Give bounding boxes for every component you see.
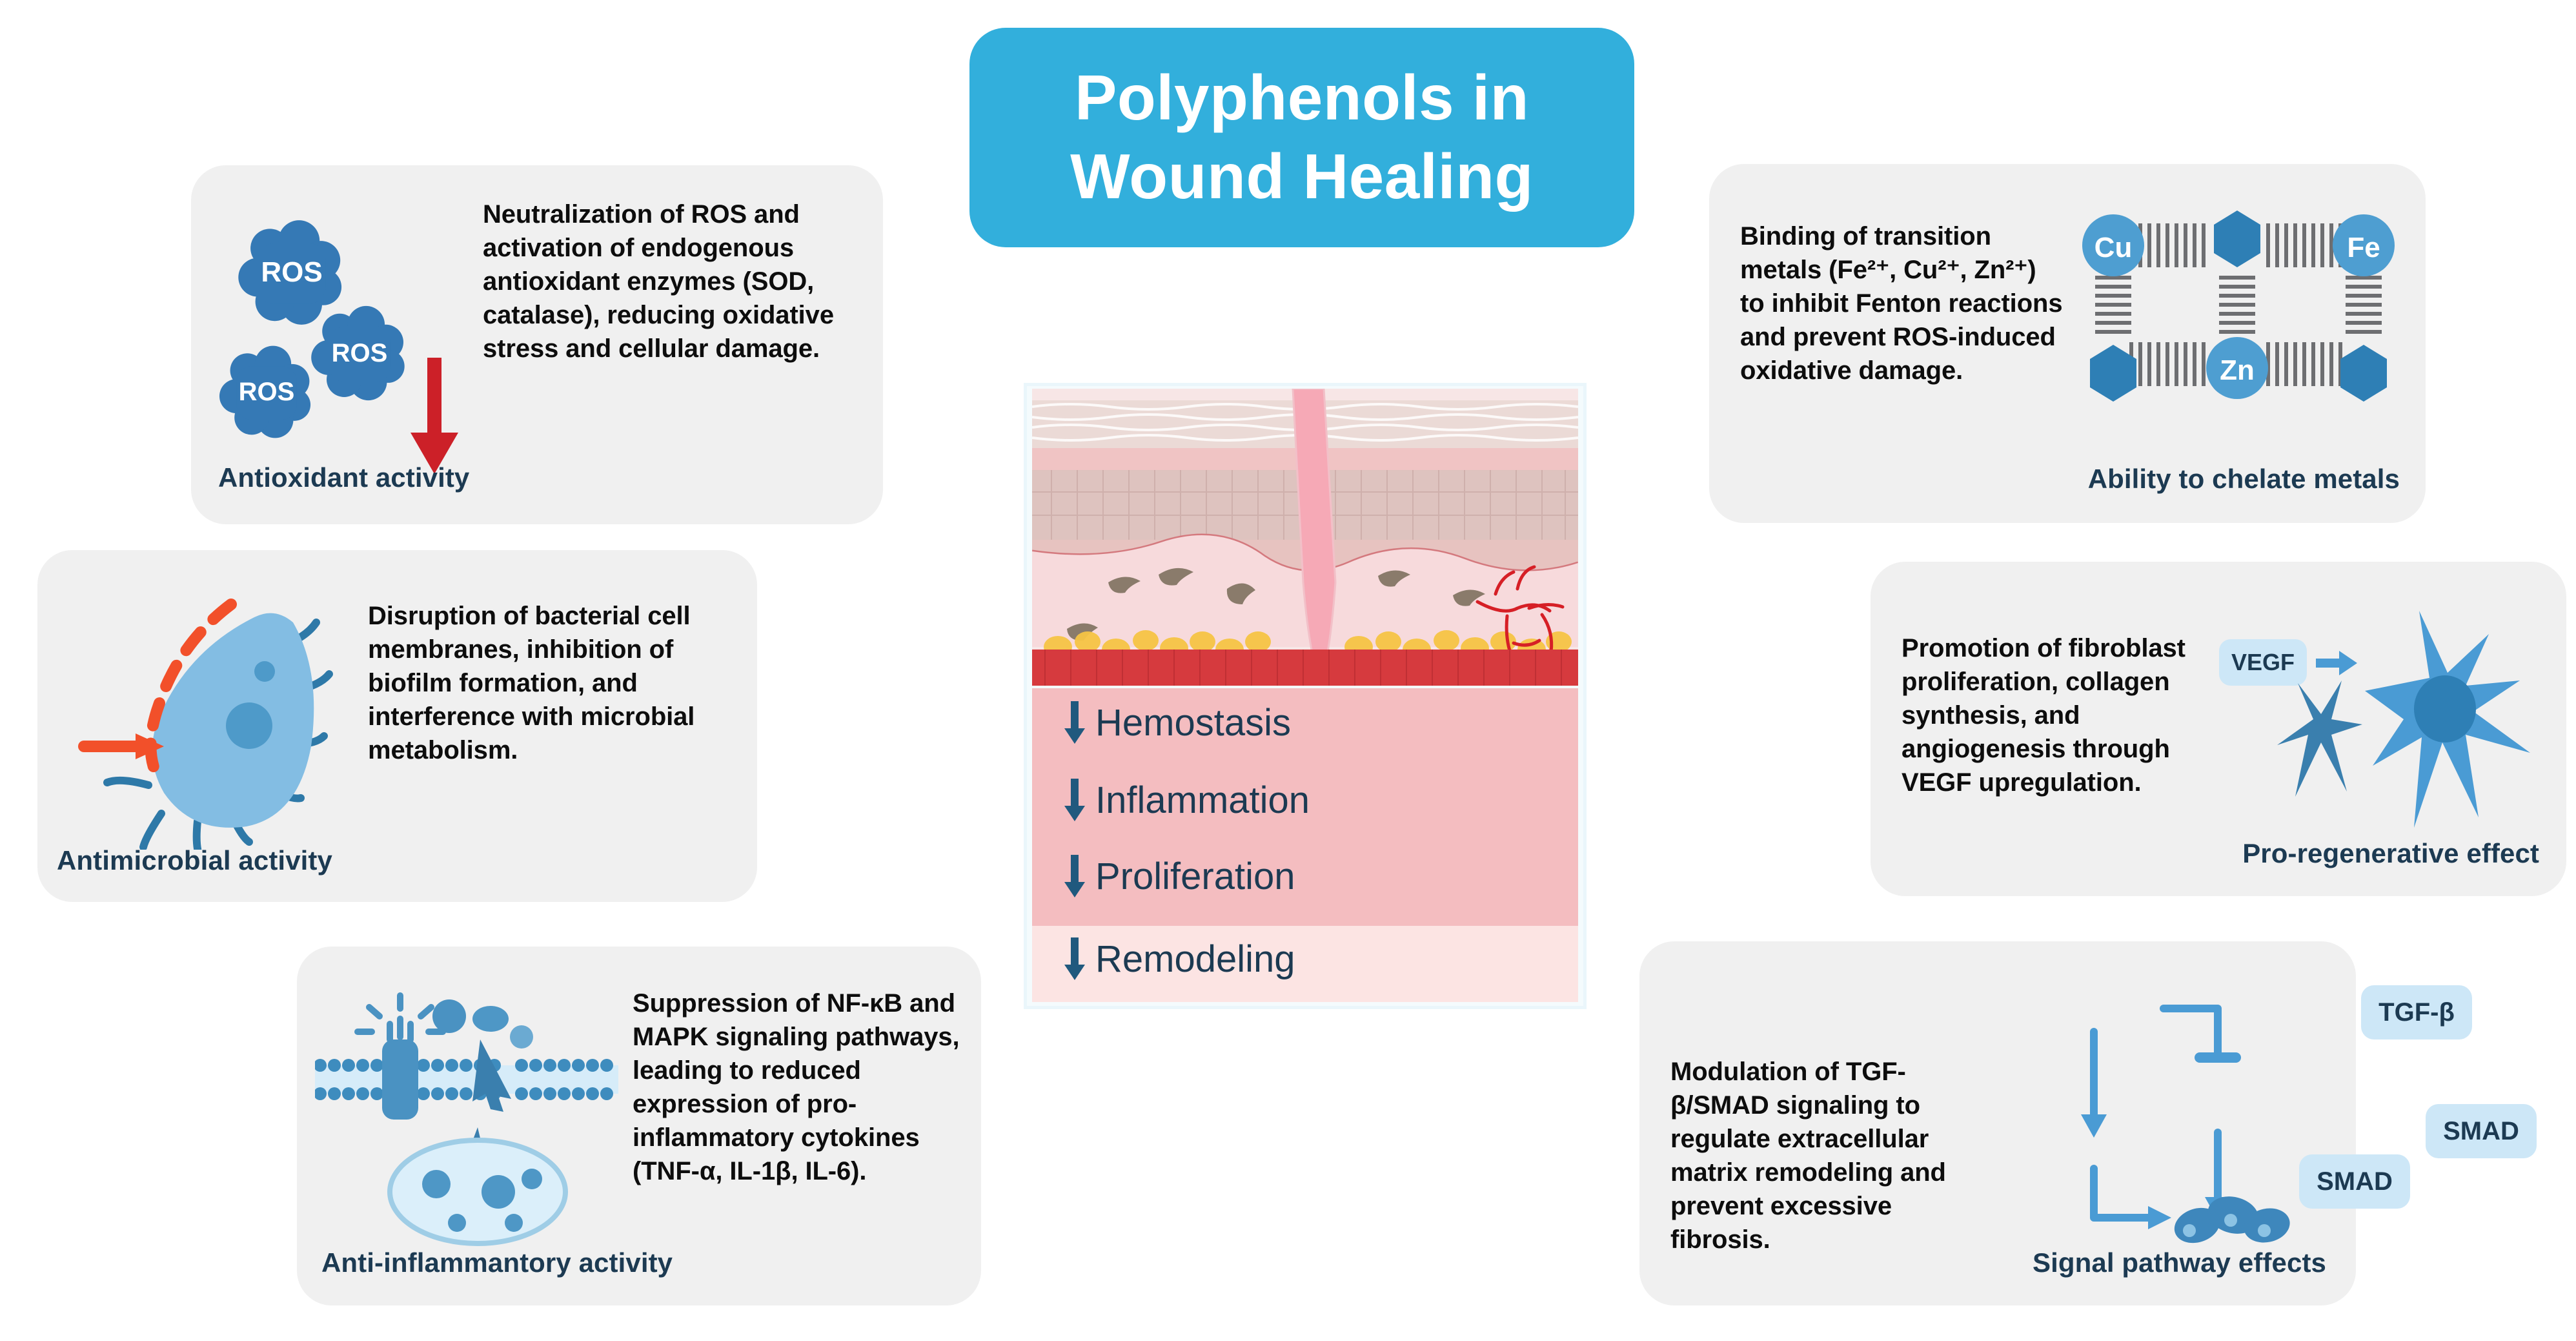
phase-row: Inflammation	[1063, 776, 1310, 824]
title-line-2: Wound Healing	[1070, 138, 1534, 216]
cell-signaling-icon	[315, 988, 618, 1259]
title-banner: Polyphenols in Wound Healing	[969, 28, 1634, 247]
card-antimicrobial-caption: Antimicrobial activity	[57, 845, 332, 876]
card-signal-caption: Signal pathway effects	[2033, 1247, 2326, 1278]
card-antioxidant-caption: Antioxidant activity	[218, 462, 469, 493]
ros-label: ROS	[305, 298, 414, 408]
node-smad-right: SMAD	[2426, 1104, 2537, 1158]
card-anti-inflammatory: Suppression of NF-κB and MAPK signaling …	[297, 947, 981, 1305]
skin-cross-section-icon	[1032, 389, 1578, 686]
card-pro-regenerative-caption: Pro-regenerative effect	[2242, 838, 2539, 869]
card-signal-pathway: Modulation of TGF-β/SMAD signaling to re…	[1639, 941, 2356, 1305]
card-chelate-metals: Binding of transition metals (Fe²⁺, Cu²⁺…	[1709, 164, 2426, 523]
metal-label-zn: Zn	[2220, 354, 2255, 386]
metal-label-fe: Fe	[2347, 232, 2380, 263]
phase-row: Proliferation	[1063, 852, 1295, 900]
ros-label: ROS	[213, 338, 320, 445]
fibroblast-icon	[2213, 600, 2535, 859]
card-chelate-text: Binding of transition metals (Fe²⁺, Cu²⁺…	[1740, 220, 2063, 387]
card-antimicrobial-text: Disruption of bacterial cell membranes, …	[368, 599, 736, 767]
title-line-1: Polyphenols in	[1070, 59, 1534, 138]
page-title: Polyphenols in Wound Healing	[1070, 59, 1534, 216]
wound-figure: Hemostasis Inflammation Proliferation Re…	[1027, 386, 1583, 1006]
card-pro-regenerative-text: Promotion of fibroblast proliferation, c…	[1902, 631, 2205, 799]
card-anti-inflammatory-text: Suppression of NF-κB and MAPK signaling …	[633, 987, 962, 1188]
wound-healing-phase-list: Hemostasis Inflammation Proliferation Re…	[1032, 688, 1578, 1002]
phase-label: Remodeling	[1095, 937, 1295, 981]
node-tgf-beta: TGF-β	[2361, 985, 2472, 1039]
metal-chelation-lattice-icon: Cu Fe Zn	[2077, 200, 2400, 413]
ros-cloud-icon: ROS	[213, 338, 320, 445]
phase-label: Hemostasis	[1095, 701, 1291, 744]
card-signal-text: Modulation of TGF-β/SMAD signaling to re…	[1670, 1055, 1993, 1256]
node-smad-left: SMAD	[2299, 1154, 2410, 1209]
phase-row: Hemostasis	[1063, 699, 1291, 746]
card-anti-inflammatory-caption: Anti-inflammantory activity	[321, 1247, 673, 1278]
phase-row: Remodeling	[1063, 935, 1295, 983]
phase-label: Inflammation	[1095, 779, 1310, 822]
tgf-smad-connectors	[2001, 972, 2337, 1256]
card-antioxidant: ROS ROS ROS	[191, 165, 883, 524]
red-down-arrow-icon	[405, 353, 463, 479]
down-arrow-icon	[1063, 935, 1086, 983]
ros-cloud-icon: ROS	[305, 298, 414, 408]
bacterium-icon	[61, 591, 358, 850]
down-arrow-icon	[1063, 699, 1086, 746]
card-antimicrobial: Disruption of bacterial cell membranes, …	[37, 550, 757, 902]
card-antioxidant-text: Neutralization of ROS and activation of …	[483, 198, 857, 365]
down-arrow-icon	[1063, 776, 1086, 824]
down-arrow-icon	[1063, 852, 1086, 900]
phase-label: Proliferation	[1095, 855, 1295, 898]
card-pro-regenerative: Promotion of fibroblast proliferation, c…	[1871, 562, 2566, 896]
card-chelate-caption: Ability to chelate metals	[2088, 464, 2400, 495]
metal-label-cu: Cu	[2094, 232, 2133, 263]
